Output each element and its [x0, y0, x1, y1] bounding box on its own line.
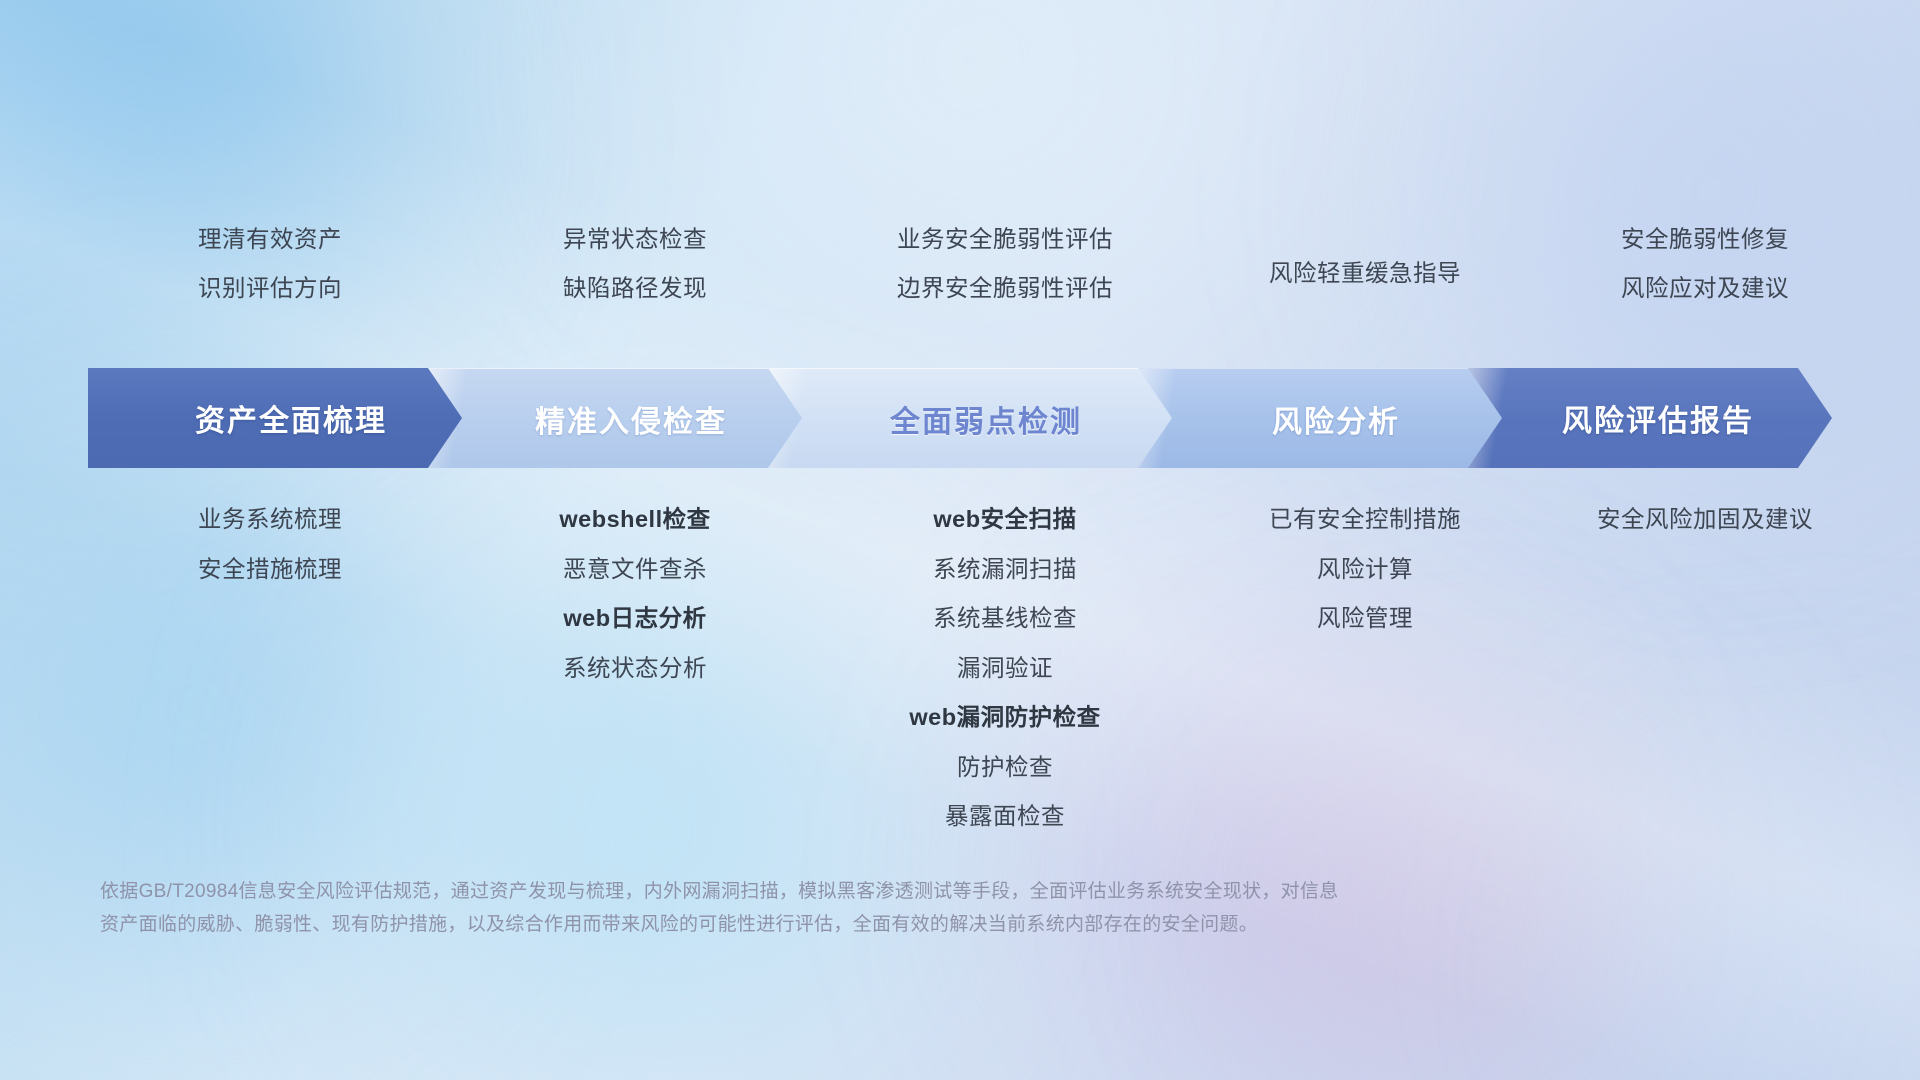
bottom-lists-row: 业务系统梳理 安全措施梳理 webshell检查 恶意文件查杀 web日志分析 …: [80, 508, 1880, 855]
top-label-text: 缺陷路径发现: [563, 277, 707, 301]
process-diagram: 理清有效资产 识别评估方向 异常状态检查 缺陷路径发现 业务安全脆弱性评估 边界…: [0, 0, 1920, 1080]
stage-label: 精准入侵检查: [535, 397, 727, 441]
top-label-text: 异常状态检查: [563, 228, 707, 252]
list-item: web日志分析: [563, 607, 706, 631]
stage-label: 风险评估报告: [1562, 396, 1754, 440]
list-item: 系统漏洞扫描: [933, 558, 1077, 582]
bottom-list-3: web安全扫描 系统漏洞扫描 系统基线检查 漏洞验证 web漏洞防护检查 防护检…: [810, 508, 1200, 855]
stage-label: 风险分析: [1272, 397, 1400, 441]
top-label-text: 理清有效资产: [198, 228, 342, 252]
footer-line-1: 依据GB/T20984信息安全风险评估规范，通过资产发现与梳理，内外网漏洞扫描，…: [100, 875, 1660, 908]
stage-arrow-5[interactable]: 风险评估报告: [1468, 368, 1832, 468]
footer-description: 依据GB/T20984信息安全风险评估规范，通过资产发现与梳理，内外网漏洞扫描，…: [100, 875, 1660, 942]
top-label-group-5: 安全脆弱性修复 风险应对及建议: [1530, 228, 1880, 348]
stage-label: 资产全面梳理: [195, 396, 387, 440]
list-item: 已有安全控制措施: [1269, 508, 1461, 532]
top-label-text: 边界安全脆弱性评估: [897, 277, 1113, 301]
stage-arrow-3[interactable]: 全面弱点检测: [768, 368, 1188, 468]
list-item: 安全措施梳理: [198, 558, 342, 582]
list-item: 恶意文件查杀: [563, 558, 707, 582]
top-labels-row: 理清有效资产 识别评估方向 异常状态检查 缺陷路径发现 业务安全脆弱性评估 边界…: [80, 228, 1880, 348]
list-item: 业务系统梳理: [198, 508, 342, 532]
list-item: 漏洞验证: [957, 657, 1053, 681]
top-label-text: 风险应对及建议: [1621, 277, 1789, 301]
list-item: 防护检查: [957, 756, 1053, 780]
stage-arrow-1[interactable]: 资产全面梳理: [88, 368, 478, 468]
list-item: 系统基线检查: [933, 607, 1077, 631]
top-label-group-1: 理清有效资产 识别评估方向: [80, 228, 460, 348]
stage-arrow-band: 资产全面梳理 精准入侵检查 全面弱点检测 风险分析 风险评估报告: [88, 368, 1832, 468]
top-label-group-4: 风险轻重缓急指导: [1200, 228, 1530, 348]
stage-arrow-4[interactable]: 风险分析: [1138, 368, 1518, 468]
bottom-list-2: webshell检查 恶意文件查杀 web日志分析 系统状态分析: [460, 508, 810, 706]
list-item: 风险计算: [1317, 558, 1413, 582]
top-label-text: 风险轻重缓急指导: [1269, 262, 1461, 286]
list-item: 风险管理: [1317, 607, 1413, 631]
top-label-group-2: 异常状态检查 缺陷路径发现: [460, 228, 810, 348]
top-label-text: 安全脆弱性修复: [1621, 228, 1789, 252]
footer-line-2: 资产面临的威胁、脆弱性、现有防护措施，以及综合作用而带来风险的可能性进行评估，全…: [100, 908, 1660, 941]
bottom-list-4: 已有安全控制措施 风险计算 风险管理: [1200, 508, 1530, 657]
bottom-list-1: 业务系统梳理 安全措施梳理: [80, 508, 460, 607]
stage-label: 全面弱点检测: [890, 397, 1082, 441]
list-item: 安全风险加固及建议: [1597, 508, 1813, 532]
list-item: web漏洞防护检查: [909, 706, 1100, 730]
top-label-text: 识别评估方向: [198, 277, 342, 301]
top-label-text: 业务安全脆弱性评估: [897, 228, 1113, 252]
list-item: webshell检查: [559, 508, 710, 532]
stage-arrow-2[interactable]: 精准入侵检查: [428, 368, 818, 468]
list-item: 系统状态分析: [563, 657, 707, 681]
list-item: web安全扫描: [933, 508, 1076, 532]
top-label-group-3: 业务安全脆弱性评估 边界安全脆弱性评估: [810, 228, 1200, 348]
list-item: 暴露面检查: [945, 805, 1065, 829]
bottom-list-5: 安全风险加固及建议: [1530, 508, 1880, 558]
